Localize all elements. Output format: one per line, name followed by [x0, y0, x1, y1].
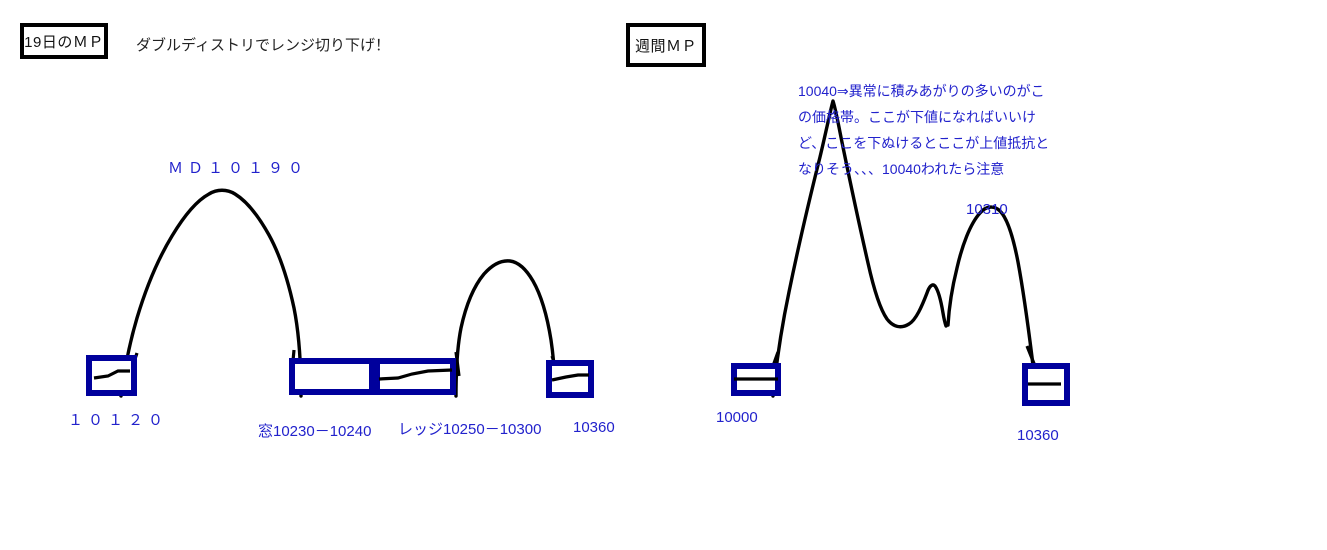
right-chart-annotation: 10040⇒異常に積みあがりの多いのがこ の価格帯。ここが下値になればいいけ ど… — [798, 78, 1050, 182]
left-chart-curve-second-hump — [456, 261, 555, 396]
left-label-10120: １０１２０ — [68, 409, 168, 430]
annotation-line-1: 10040⇒異常に積みあがりの多いのがこ — [798, 78, 1050, 104]
right-chart-title-box: 週間ＭＰ — [626, 23, 706, 67]
left-label-ledge-10250-10300: レッジ10250－10300 — [398, 418, 541, 439]
left-chart-title-label: 19日のＭＰ — [24, 31, 104, 52]
right-chart-title-label: 週間ＭＰ — [635, 35, 697, 56]
right-label-10360: 10360 — [1017, 427, 1059, 444]
left-label-peak-md10190: ＭＤ１０１９０ — [168, 157, 308, 178]
left-label-10360: 10360 — [573, 419, 615, 436]
left-chart-title-box: 19日のＭＰ — [20, 23, 108, 59]
left-chart-headline: ダブルディストリでレンジ切り下げ！ — [136, 34, 390, 55]
left-box-gap — [292, 361, 372, 392]
left-chart-curve-first-hump — [121, 190, 301, 396]
annotation-line-2: の価格帯。ここが下値になればいいけ — [798, 104, 1050, 130]
left-label-gap-10230-10240: 窓10230－10240 — [258, 420, 371, 441]
drawing-canvas: 19日のＭＰ 週間ＭＰ ダブルディストリでレンジ切り下げ！ 10040⇒異常に積… — [0, 0, 1327, 550]
annotation-line-3: ど、ここを下ぬけるとここが上値抵抗と — [798, 130, 1050, 156]
annotation-line-4: なりそう、、、10040われたら注意 — [798, 156, 1050, 182]
right-label-10310: 10310 — [966, 201, 1008, 218]
right-label-10000: 10000 — [716, 409, 758, 426]
hand-drawn-chart-layer — [0, 0, 1327, 550]
left-box-ledge — [377, 361, 453, 392]
